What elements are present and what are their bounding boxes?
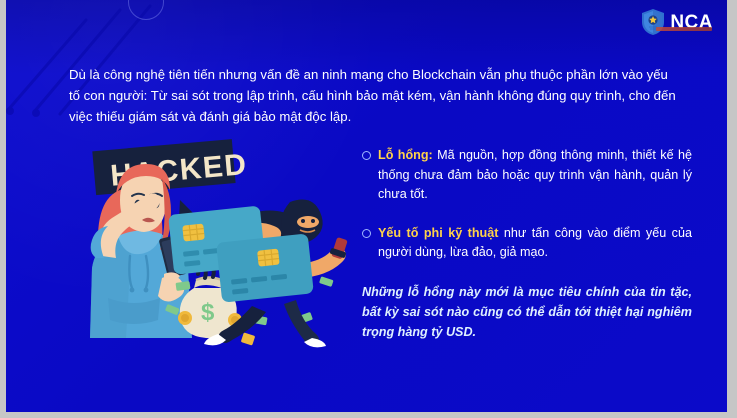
logo-subtitle-bar — [656, 27, 712, 31]
hacking-illustration: HACKED — [84, 138, 354, 350]
nca-logo: NCA — [640, 8, 713, 36]
bullet-heading: Lỗ hổng: — [378, 148, 433, 162]
bullet-text: Yếu tố phi kỹ thuật như tấn công vào điể… — [378, 224, 692, 263]
illustration-svg: HACKED — [84, 138, 354, 350]
ring-bullet-icon — [362, 229, 371, 238]
bullet-text: Lỗ hổng: Mã nguồn, hợp đồng thông minh, … — [378, 146, 692, 205]
list-item: Lỗ hổng: Mã nguồn, hợp đồng thông minh, … — [362, 146, 692, 205]
shield-star-icon — [640, 8, 666, 36]
presentation-slide: NCA Dù là công nghệ tiên tiến nhưng vấn … — [6, 0, 727, 412]
bullet-heading: Yếu tố phi kỹ thuật — [378, 226, 498, 240]
list-item: Yếu tố phi kỹ thuật như tấn công vào điể… — [362, 224, 692, 263]
bullet-list: Lỗ hổng: Mã nguồn, hợp đồng thông minh, … — [362, 146, 692, 342]
closing-note: Những lỗ hổng này mới là mục tiêu chính … — [362, 282, 692, 342]
intro-paragraph: Dù là công nghệ tiên tiến nhưng vấn đề a… — [69, 64, 679, 127]
screenshot-stage: NCA Dù là công nghệ tiên tiến nhưng vấn … — [0, 0, 737, 418]
money-bag-symbol: $ — [201, 299, 215, 326]
ring-bullet-icon — [362, 151, 371, 160]
